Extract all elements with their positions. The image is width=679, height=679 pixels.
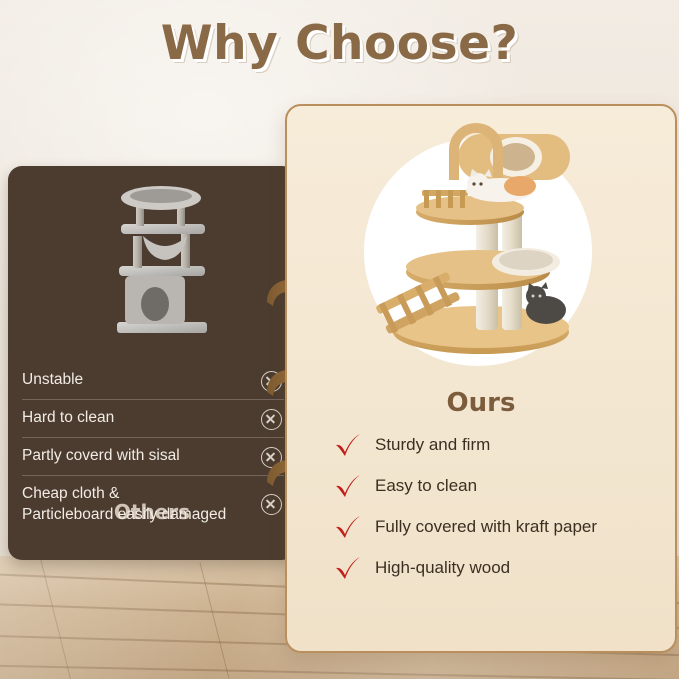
con-text: Cheap cloth & Particleboard easily damag… bbox=[22, 483, 226, 525]
pro-text: Fully covered with kraft paper bbox=[375, 517, 597, 537]
ours-label: Ours bbox=[287, 388, 675, 418]
pro-row: Easy to clean bbox=[335, 465, 665, 506]
pro-row: High-quality wood bbox=[335, 547, 665, 588]
pro-row: Fully covered with kraft paper bbox=[335, 506, 665, 547]
pro-text: Easy to clean bbox=[375, 476, 477, 496]
con-text: Partly coverd with sisal bbox=[22, 445, 180, 466]
con-row: Cheap cloth & Particleboard easily damag… bbox=[22, 476, 284, 532]
con-row: Partly coverd with sisal bbox=[22, 438, 284, 476]
ours-panel: Ours Sturdy and firm Easy to clean bbox=[285, 104, 677, 653]
con-text: Unstable bbox=[22, 369, 83, 390]
con-row: Unstable bbox=[22, 362, 284, 400]
grey-plush-cat-tree-photo bbox=[103, 180, 221, 340]
pros-list: Sturdy and firm Easy to clean Fully cove… bbox=[335, 424, 665, 588]
con-row: Hard to clean bbox=[22, 400, 284, 438]
red-check-icon bbox=[335, 556, 361, 580]
x-circle-icon bbox=[261, 494, 282, 515]
red-check-icon bbox=[335, 474, 361, 498]
cons-list: Unstable Hard to clean Partly coverd wit… bbox=[22, 362, 284, 532]
infographic-canvas: Why Choose? bbox=[0, 0, 679, 679]
pro-text: Sturdy and firm bbox=[375, 435, 490, 455]
pro-text: High-quality wood bbox=[375, 558, 510, 578]
x-circle-icon bbox=[261, 409, 282, 430]
page-title: Why Choose? bbox=[0, 16, 679, 71]
others-panel: Others Unstable Hard to clean Partly cov… bbox=[8, 166, 296, 560]
con-text: Hard to clean bbox=[22, 407, 114, 428]
wooden-cat-tree-photo bbox=[350, 120, 612, 374]
red-check-icon bbox=[335, 433, 361, 457]
pro-row: Sturdy and firm bbox=[335, 424, 665, 465]
red-check-icon bbox=[335, 515, 361, 539]
